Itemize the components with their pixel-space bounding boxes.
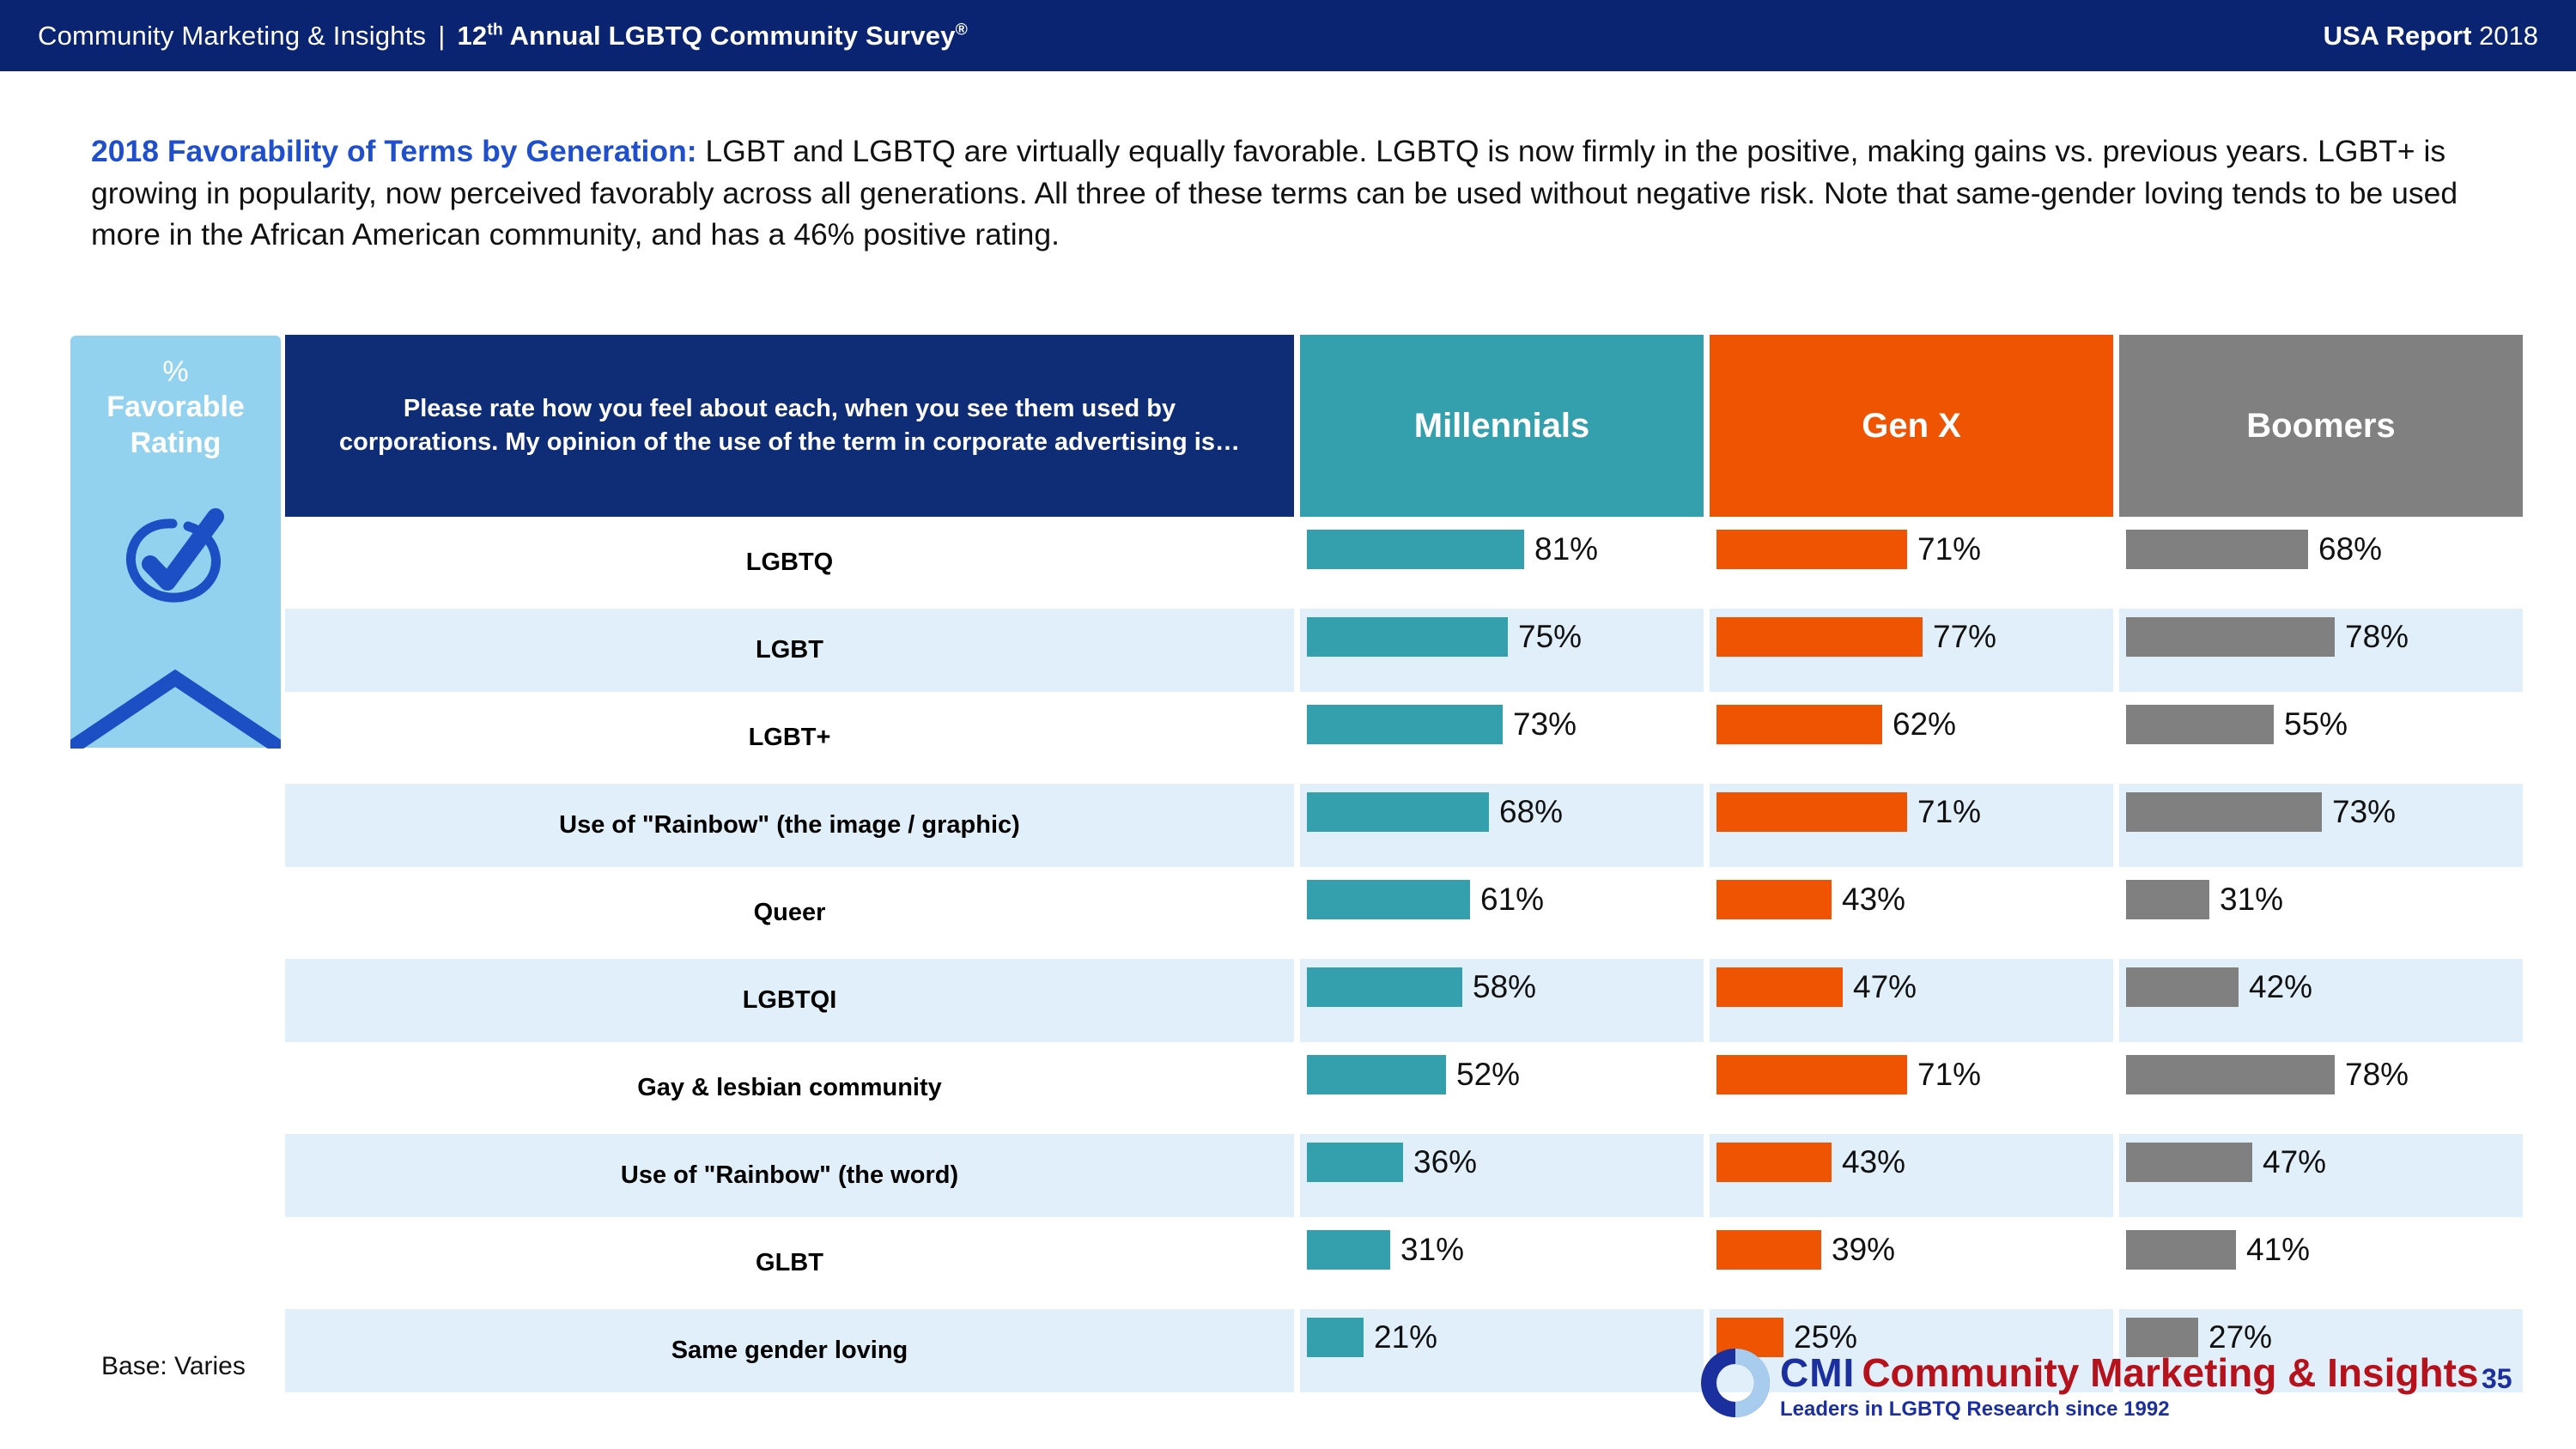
value-bar (1716, 880, 1832, 919)
value-label: 47% (1853, 967, 1917, 1007)
value-bar (2126, 1230, 2236, 1270)
value-label: 71% (1917, 530, 1981, 569)
value-label: 68% (2318, 530, 2382, 569)
bar-cell-millennials: 81% (1300, 521, 1704, 604)
value-label: 78% (2345, 1055, 2409, 1094)
column-divider (2113, 784, 2119, 867)
value-label: 42% (2249, 967, 2312, 1007)
table-body: LGBTQ81%71%68%LGBT75%77%78%LGBT+73%62%55… (70, 521, 2523, 1392)
bar-cell-boomers: 31% (2119, 871, 2523, 955)
bar-cell-millennials: 21% (1300, 1309, 1704, 1392)
bar-cell-boomers: 73% (2119, 784, 2523, 867)
value-bar (1716, 1230, 1821, 1270)
column-divider (1294, 1309, 1300, 1392)
ribbon-line-favorable: Favorable (70, 390, 281, 425)
favorability-table: Please rate how you feel about each, whe… (70, 335, 2523, 1397)
base-note: Base: Varies (101, 1352, 246, 1381)
value-label: 47% (2263, 1143, 2326, 1182)
value-bar (1307, 880, 1470, 919)
question-header-cell: Please rate how you feel about each, whe… (285, 335, 1294, 517)
value-label: 73% (1513, 705, 1577, 744)
page-number: 35 (2482, 1363, 2512, 1395)
table-row: LGBTQI58%47%42% (70, 959, 2523, 1042)
value-bar (1307, 1230, 1390, 1270)
value-label: 58% (1473, 967, 1536, 1007)
value-bar (1307, 1055, 1446, 1094)
column-divider (2113, 959, 2119, 1042)
registered-mark-icon: ® (956, 21, 968, 39)
table-row: GLBT31%39%41% (70, 1222, 2523, 1305)
column-divider (1704, 871, 1710, 955)
bar-cell-boomers: 47% (2119, 1134, 2523, 1217)
value-label: 55% (2284, 705, 2348, 744)
cmi-logo-text: CMI Community Marketing & Insights Leade… (1780, 1349, 2479, 1422)
term-label: LGBT (285, 609, 1294, 692)
column-divider (2113, 696, 2119, 779)
column-divider (1294, 784, 1300, 867)
bar-cell-gen-x: 39% (1710, 1222, 2113, 1305)
ribbon-notch (70, 654, 281, 749)
term-label: LGBTQI (285, 959, 1294, 1042)
bar-cell-millennials: 52% (1300, 1046, 1704, 1130)
ribbon-column-spacer (70, 959, 285, 1042)
bar-cell-millennials: 36% (1300, 1134, 1704, 1217)
value-label: 39% (1832, 1230, 1895, 1270)
value-bar (1307, 1143, 1403, 1182)
cmi-full-name: Community Marketing & Insights (1862, 1349, 2478, 1396)
value-bar (1716, 1055, 1907, 1094)
column-divider (2113, 1046, 2119, 1130)
cmi-logo-primary: CMI Community Marketing & Insights (1780, 1349, 2479, 1396)
value-label: 71% (1917, 1055, 1981, 1094)
value-bar (1716, 530, 1907, 569)
column-divider (1704, 784, 1710, 867)
bar-cell-gen-x: 77% (1710, 609, 2113, 692)
table-row: LGBT+73%62%55% (70, 696, 2523, 779)
column-divider (1294, 1222, 1300, 1305)
value-bar (1307, 530, 1524, 569)
ribbon-column-spacer (70, 1222, 285, 1305)
ribbon-label: % Favorable Rating (70, 355, 281, 461)
column-divider (1294, 696, 1300, 779)
value-label: 73% (2332, 792, 2396, 832)
banner-separator: | (426, 21, 457, 52)
column-divider (2113, 871, 2119, 955)
report-year: 2018 (2479, 21, 2538, 51)
bar-cell-gen-x: 62% (1710, 696, 2113, 779)
ribbon-column-spacer (70, 784, 285, 867)
value-bar (2126, 792, 2322, 832)
column-divider (1294, 521, 1300, 604)
bar-cell-gen-x: 71% (1710, 521, 2113, 604)
table-row: Queer61%43%31% (70, 871, 2523, 955)
term-label: GLBT (285, 1222, 1294, 1305)
column-divider (1294, 335, 1300, 517)
slide: Community Marketing & Insights | 12th An… (0, 0, 2576, 1449)
cmi-acronym: CMI (1780, 1349, 1855, 1396)
term-label: Queer (285, 871, 1294, 955)
value-label: 31% (2220, 880, 2283, 919)
bar-cell-millennials: 58% (1300, 959, 1704, 1042)
favorable-rating-ribbon: % Favorable Rating (70, 336, 281, 748)
column-header-genx: Gen X (1710, 335, 2113, 517)
survey-ordinal-suffix: th (487, 21, 503, 39)
table-row: Use of "Rainbow" (the image / graphic)68… (70, 784, 2523, 867)
value-bar (2126, 530, 2308, 569)
column-divider (2113, 609, 2119, 692)
column-divider (2113, 1134, 2119, 1217)
value-label: 81% (1534, 530, 1598, 569)
column-header-millennials: Millennials (1300, 335, 1704, 517)
term-label: Use of "Rainbow" (the image / graphic) (285, 784, 1294, 867)
column-divider (1704, 959, 1710, 1042)
value-label: 77% (1933, 617, 1996, 657)
column-divider (1704, 521, 1710, 604)
value-bar (2126, 1055, 2335, 1094)
value-label: 75% (1518, 617, 1582, 657)
value-label: 68% (1499, 792, 1563, 832)
column-divider (2113, 521, 2119, 604)
value-bar (1716, 1143, 1832, 1182)
bar-cell-gen-x: 71% (1710, 784, 2113, 867)
ribbon-column-spacer (70, 871, 285, 955)
column-divider (1704, 1046, 1710, 1130)
value-bar (1307, 967, 1462, 1007)
value-bar (1307, 705, 1503, 744)
column-divider (1704, 1134, 1710, 1217)
value-bar (2126, 967, 2239, 1007)
value-label: 31% (1400, 1230, 1464, 1270)
bar-cell-gen-x: 43% (1710, 871, 2113, 955)
column-divider (1704, 609, 1710, 692)
column-header-boomers: Boomers (2119, 335, 2523, 517)
value-label: 52% (1456, 1055, 1520, 1094)
ribbon-column-spacer (70, 1046, 285, 1130)
column-divider (1704, 335, 1710, 517)
value-bar (2126, 617, 2335, 657)
value-label: 43% (1842, 880, 1905, 919)
banner-survey-title: 12th Annual LGBTQ Community Survey® (457, 21, 968, 52)
banner-report-label: USA Report 2018 (2324, 21, 2538, 52)
ribbon-line-rating: Rating (70, 426, 281, 461)
term-label: Same gender loving (285, 1309, 1294, 1392)
column-divider (1704, 1222, 1710, 1305)
bar-cell-boomers: 78% (2119, 609, 2523, 692)
cmi-ring-icon (1696, 1343, 1775, 1427)
bar-cell-boomers: 68% (2119, 521, 2523, 604)
value-label: 21% (1374, 1318, 1437, 1357)
bar-cell-gen-x: 71% (1710, 1046, 2113, 1130)
ribbon-percent-symbol: % (162, 355, 188, 388)
bar-cell-boomers: 78% (2119, 1046, 2523, 1130)
value-label: 71% (1917, 792, 1981, 832)
value-bar (2126, 1143, 2252, 1182)
value-label: 43% (1842, 1143, 1905, 1182)
banner-brand: Community Marketing & Insights (38, 21, 426, 52)
survey-title-rest: Annual LGBTQ Community Survey (503, 21, 956, 51)
headline-title: 2018 Favorability of Terms by Generation… (91, 134, 697, 168)
value-bar (1307, 792, 1489, 832)
top-banner: Community Marketing & Insights | 12th An… (0, 0, 2576, 71)
term-label: LGBTQ (285, 521, 1294, 604)
table-row: Use of "Rainbow" (the word)36%43%47% (70, 1134, 2523, 1217)
value-label: 41% (2246, 1230, 2310, 1270)
column-divider (2113, 1222, 2119, 1305)
value-bar (1716, 617, 1923, 657)
column-divider (1294, 609, 1300, 692)
bar-cell-millennials: 31% (1300, 1222, 1704, 1305)
table-row: Gay & lesbian community52%71%78% (70, 1046, 2523, 1130)
ribbon-column-spacer (70, 1134, 285, 1217)
bar-cell-gen-x: 43% (1710, 1134, 2113, 1217)
value-bar (2126, 705, 2274, 744)
column-divider (1294, 871, 1300, 955)
value-label: 36% (1413, 1143, 1477, 1182)
value-bar (1307, 617, 1508, 657)
table-row: LGBTQ81%71%68% (70, 521, 2523, 604)
value-bar (1716, 967, 1843, 1007)
value-bar (2126, 880, 2209, 919)
bar-cell-millennials: 68% (1300, 784, 1704, 867)
value-label: 78% (2345, 617, 2409, 657)
check-circle-icon (116, 503, 236, 622)
term-label: Gay & lesbian community (285, 1046, 1294, 1130)
column-divider (1704, 696, 1710, 779)
value-label: 61% (1480, 880, 1544, 919)
headline-paragraph: 2018 Favorability of Terms by Generation… (91, 130, 2512, 256)
bar-cell-gen-x: 47% (1710, 959, 2113, 1042)
banner-title: Community Marketing & Insights | 12th An… (38, 21, 968, 52)
value-bar (1716, 705, 1882, 744)
table-header-row: Please rate how you feel about each, whe… (70, 335, 2523, 517)
cmi-tagline: Leaders in LGBTQ Research since 1992 (1780, 1397, 2479, 1422)
column-divider (1294, 959, 1300, 1042)
bar-cell-boomers: 55% (2119, 696, 2523, 779)
term-label: LGBT+ (285, 696, 1294, 779)
value-bar (1307, 1318, 1364, 1357)
report-name: USA Report (2324, 21, 2472, 51)
table-row: LGBT75%77%78% (70, 609, 2523, 692)
bar-cell-millennials: 75% (1300, 609, 1704, 692)
bar-cell-boomers: 42% (2119, 959, 2523, 1042)
value-label: 62% (1893, 705, 1956, 744)
column-divider (2113, 335, 2119, 517)
term-label: Use of "Rainbow" (the word) (285, 1134, 1294, 1217)
column-divider (1294, 1046, 1300, 1130)
cmi-logo: CMI Community Marketing & Insights Leade… (1696, 1343, 2479, 1427)
bar-cell-millennials: 73% (1300, 696, 1704, 779)
bar-cell-millennials: 61% (1300, 871, 1704, 955)
bar-cell-boomers: 41% (2119, 1222, 2523, 1305)
column-divider (1294, 1134, 1300, 1217)
value-bar (1716, 792, 1907, 832)
survey-ordinal-number: 12 (457, 21, 487, 51)
